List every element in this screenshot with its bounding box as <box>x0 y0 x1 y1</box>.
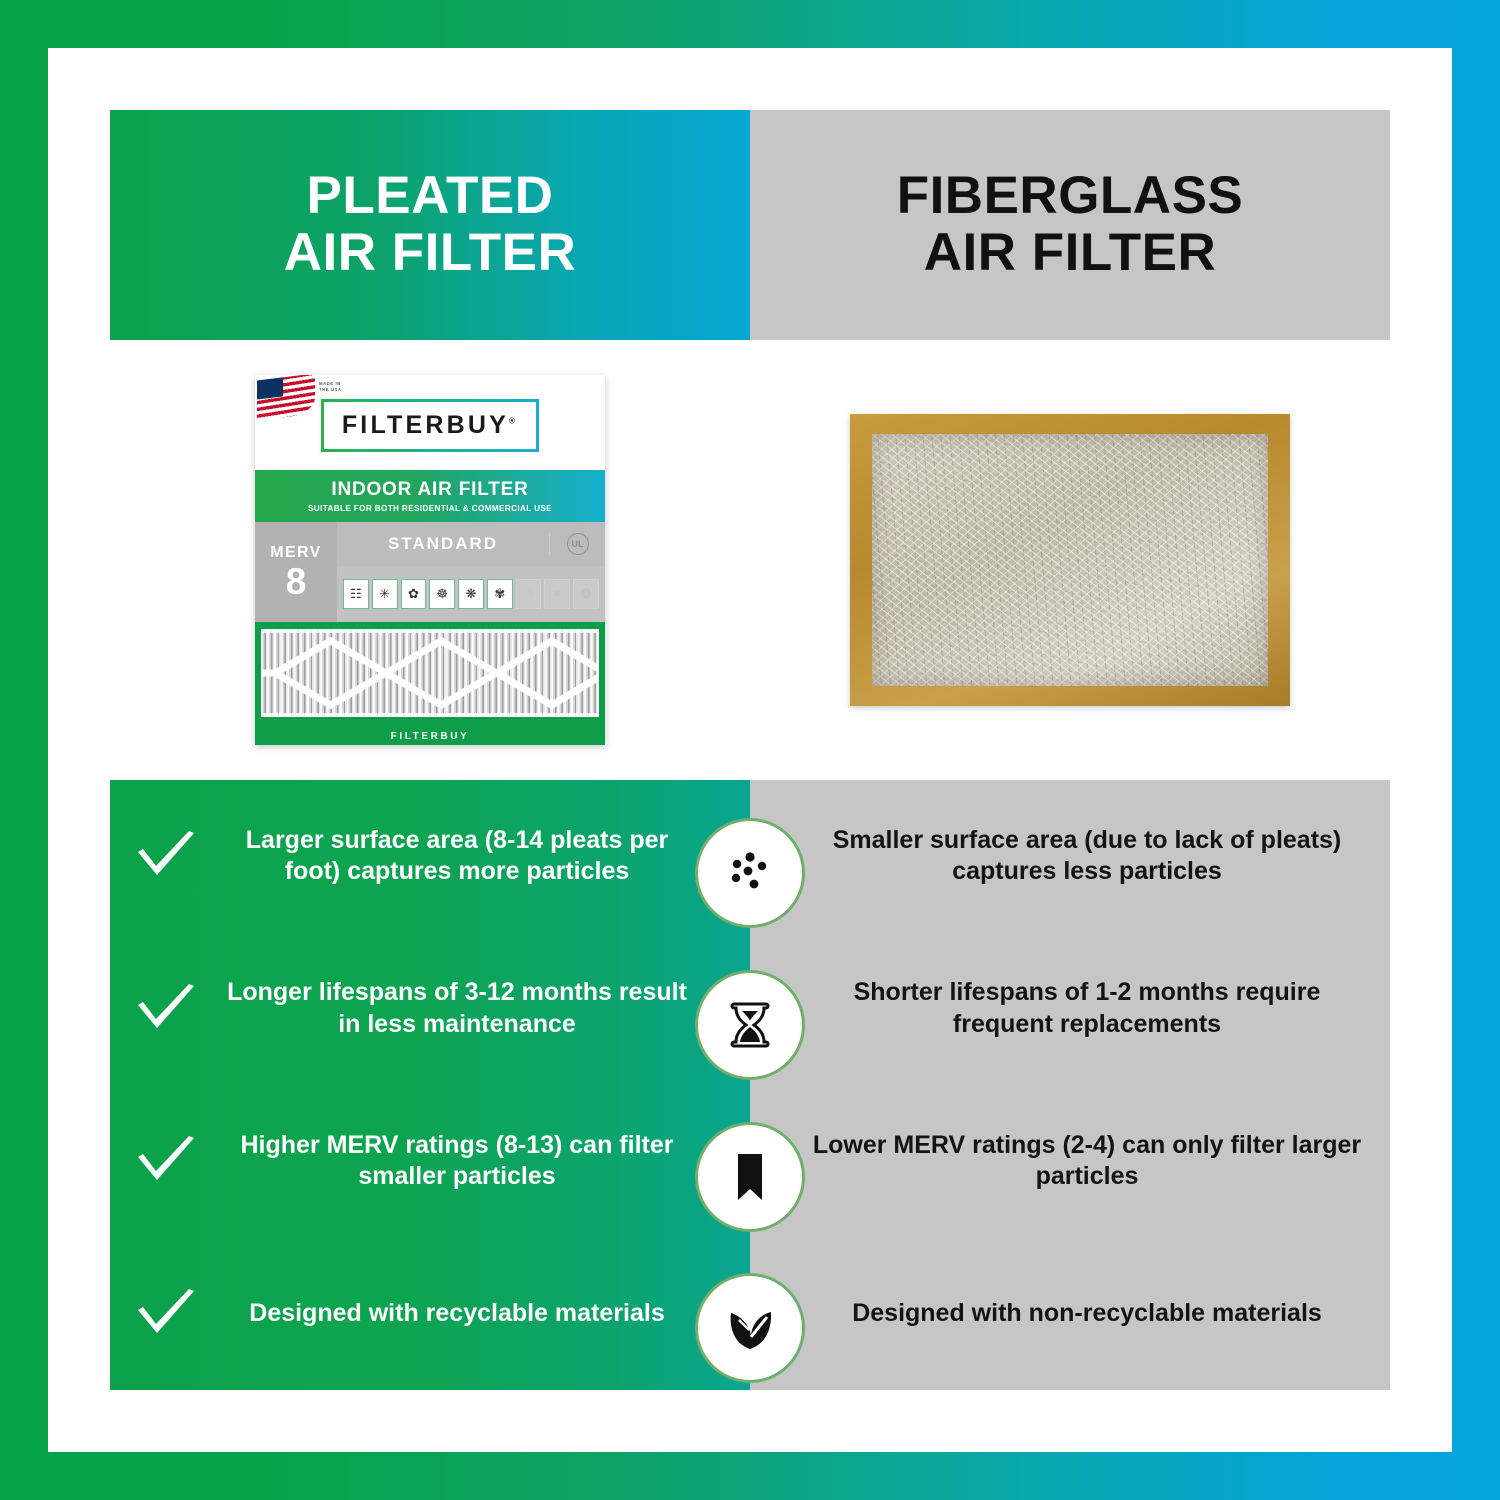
list-item: Designed with recyclable materials <box>110 1238 750 1391</box>
pet-dander-icon: ✾ <box>487 579 513 609</box>
list-item: Smaller surface area (due to lack of ple… <box>750 780 1390 933</box>
usa-flag-icon <box>257 375 315 421</box>
list-item-text: Larger surface area (8-14 pleats per foo… <box>222 825 750 888</box>
header-pleated: PLEATED AIR FILTER <box>110 110 750 340</box>
fiberglass-filter-photo <box>850 414 1290 706</box>
list-item: Shorter lifespans of 1-2 months require … <box>750 933 1390 1086</box>
grade-label: STANDARD <box>337 534 549 554</box>
bacteria-icon: ⚬ <box>544 579 570 609</box>
comparison-column-fiberglass: Smaller surface area (due to lack of ple… <box>750 780 1390 1390</box>
grade-row: STANDARD UL <box>337 522 605 566</box>
list-item: Larger surface area (8-14 pleats per foo… <box>110 780 750 933</box>
comparison-board: PLEATED AIR FILTER FIBERGLASS AIR FILTER <box>110 110 1390 1390</box>
header-fiberglass: FIBERGLASS AIR FILTER <box>750 110 1390 340</box>
checkmark-icon <box>110 1135 222 1187</box>
header-pleated-title: PLEATED AIR FILTER <box>284 168 577 281</box>
package-green-band: INDOOR AIR FILTER SUITABLE FOR BOTH RESI… <box>255 470 605 522</box>
header-pleated-line2: AIR FILTER <box>284 223 577 282</box>
product-image-row: MADE IN THE USA FILTERBUY® INDOOR AIR FI… <box>110 340 1390 780</box>
particles-icon <box>695 818 805 928</box>
header-fiberglass-title: FIBERGLASS AIR FILTER <box>897 168 1244 281</box>
trademark-symbol: ® <box>509 417 518 426</box>
header-fiberglass-line2: AIR FILTER <box>924 223 1217 282</box>
leaf-glyph <box>721 1299 779 1357</box>
fiberglass-drawback-list: Smaller surface area (due to lack of ple… <box>750 780 1390 1390</box>
bookmark-glyph <box>721 1148 779 1206</box>
fiberglass-mesh-texture <box>872 434 1268 686</box>
checkmark-icon <box>110 1288 222 1340</box>
list-item: Lower MERV ratings (2-4) can only filter… <box>750 1085 1390 1238</box>
support-mesh-icon <box>261 629 599 717</box>
merv-label: MERV <box>270 544 322 562</box>
brand-name: FILTERBUY <box>342 411 509 439</box>
particles-glyph <box>721 844 779 902</box>
mold-spore-icon: ☸ <box>429 579 455 609</box>
filterbuy-logo-box: FILTERBUY® <box>321 399 539 452</box>
filterbuy-logo-text: FILTERBUY® <box>342 411 518 440</box>
check-glyph <box>135 830 197 882</box>
package-grade-area: STANDARD UL ☷ ✳ ✿ ☸ <box>337 522 605 622</box>
package-spec-area: MERV 8 STANDARD UL <box>255 522 605 622</box>
white-sheet: PLEATED AIR FILTER FIBERGLASS AIR FILTER <box>48 48 1452 1452</box>
check-glyph <box>135 983 197 1035</box>
check-glyph <box>135 1288 197 1340</box>
outer-gradient-frame: PLEATED AIR FILTER FIBERGLASS AIR FILTER <box>0 0 1500 1500</box>
merv-block: MERV 8 <box>255 522 337 622</box>
hourglass-icon <box>695 970 805 1080</box>
list-item-text: Smaller surface area (due to lack of ple… <box>750 825 1362 888</box>
pollen-icon: ✿ <box>401 579 427 609</box>
checkmark-icon <box>110 983 222 1035</box>
list-item-text: Lower MERV ratings (2-4) can only filter… <box>750 1130 1362 1193</box>
virus-icon: ❂ <box>573 579 599 609</box>
header-band: PLEATED AIR FILTER FIBERGLASS AIR FILTER <box>110 110 1390 340</box>
pleated-media-area: FILTERBUY <box>255 622 605 745</box>
list-item-text: Designed with non-recyclable materials <box>750 1298 1362 1330</box>
header-fiberglass-line1: FIBERGLASS <box>897 166 1244 225</box>
pleated-media-texture <box>261 629 599 717</box>
package-top: MADE IN THE USA FILTERBUY® <box>255 375 605 470</box>
suitable-use-label: SUITABLE FOR BOTH RESIDENTIAL & COMMERCI… <box>308 504 552 513</box>
frame-brand-text: FILTERBUY <box>255 731 605 742</box>
pleated-filter-package: MADE IN THE USA FILTERBUY® INDOOR AIR FI… <box>255 375 605 745</box>
list-item: Higher MERV ratings (8-13) can filter sm… <box>110 1085 750 1238</box>
made-in-line2: THE USA <box>319 387 342 393</box>
ul-logo-icon: UL <box>567 533 589 555</box>
comparison-panel: Larger surface area (8-14 pleats per foo… <box>110 780 1390 1390</box>
merv-value: 8 <box>286 563 307 600</box>
lint-icon: ❋ <box>458 579 484 609</box>
check-glyph <box>135 1135 197 1187</box>
made-in-usa-text: MADE IN THE USA <box>319 381 342 394</box>
list-item: Longer lifespans of 3-12 months result i… <box>110 933 750 1086</box>
hourglass-glyph <box>721 996 779 1054</box>
ul-certification: UL <box>549 533 605 555</box>
dust-mite-icon: ✳ <box>372 579 398 609</box>
bookmark-icon <box>695 1122 805 1232</box>
dust-mop-icon: ☷ <box>343 579 369 609</box>
list-item-text: Longer lifespans of 3-12 months result i… <box>222 977 750 1040</box>
list-item-text: Designed with recyclable materials <box>222 1298 750 1330</box>
product-cell-pleated: MADE IN THE USA FILTERBUY® INDOOR AIR FI… <box>110 340 750 780</box>
smoke-icon: ☃ <box>516 579 542 609</box>
feature-icon-row: ☷ ✳ ✿ ☸ ❋ ✾ ☃ ⚬ ❂ <box>337 566 605 622</box>
list-item-text: Higher MERV ratings (8-13) can filter sm… <box>222 1130 750 1193</box>
list-item-text: Shorter lifespans of 1-2 months require … <box>750 977 1362 1040</box>
header-pleated-line1: PLEATED <box>307 166 554 225</box>
product-cell-fiberglass <box>750 340 1390 780</box>
comparison-column-pleated: Larger surface area (8-14 pleats per foo… <box>110 780 750 1390</box>
checkmark-icon <box>110 830 222 882</box>
indoor-air-filter-label: INDOOR AIR FILTER <box>331 479 528 501</box>
pleated-benefit-list: Larger surface area (8-14 pleats per foo… <box>110 780 750 1390</box>
leaf-icon <box>695 1273 805 1383</box>
list-item: Designed with non-recyclable materials <box>750 1238 1390 1391</box>
